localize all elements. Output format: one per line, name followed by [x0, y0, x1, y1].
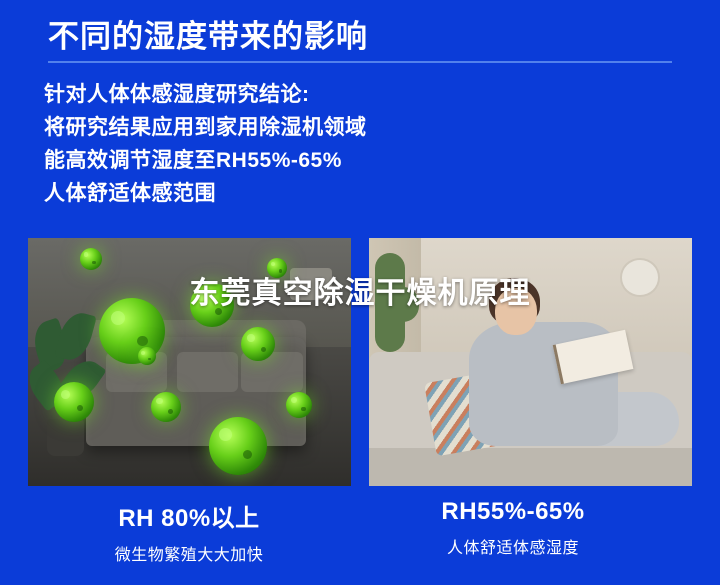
sofa-cushion [177, 352, 238, 392]
poster-root: 不同的湿度带来的影响 针对人体体感湿度研究结论: 将研究结果应用到家用除湿机领域… [0, 0, 720, 585]
watermark-text: 东莞真空除湿干燥机原理 [0, 268, 720, 312]
microbe-particle [138, 347, 156, 365]
plant-leaf [54, 309, 97, 364]
caption-right-subtitle: 人体舒适体感湿度 [348, 534, 678, 558]
microbe-particle [151, 392, 181, 422]
microbe-particle [209, 417, 267, 475]
body-line-3: 能高效调节湿度至RH55%-65% [44, 144, 684, 177]
caption-right-title: RH55%-65% [348, 498, 678, 526]
title-divider [48, 61, 672, 63]
captions-row: RH 80%以上 微生物繁殖大大加快 RH55%-65% 人体舒适体感湿度 [0, 498, 720, 578]
caption-left: RH 80%以上 微生物繁殖大大加快 [24, 498, 354, 565]
page-title: 不同的湿度带来的影响 [48, 18, 720, 61]
sofa-seat [369, 448, 692, 485]
body-text: 针对人体体感湿度研究结论: 将研究结果应用到家用除湿机领域 能高效调节湿度至RH… [44, 78, 684, 210]
body-line-2: 将研究结果应用到家用除湿机领域 [44, 111, 684, 144]
microbe-particle [286, 392, 312, 418]
title-block: 不同的湿度带来的影响 [0, 0, 720, 63]
body-line-4: 人体舒适体感范围 [44, 177, 684, 210]
caption-left-title: RH 80%以上 [24, 498, 354, 533]
microbe-particle [54, 382, 94, 422]
caption-right: RH55%-65% 人体舒适体感湿度 [348, 498, 678, 558]
caption-left-subtitle: 微生物繁殖大大加快 [24, 541, 354, 565]
plant-pot [47, 419, 84, 456]
microbe-particle [80, 248, 102, 270]
body-line-1: 针对人体体感湿度研究结论: [44, 78, 684, 111]
